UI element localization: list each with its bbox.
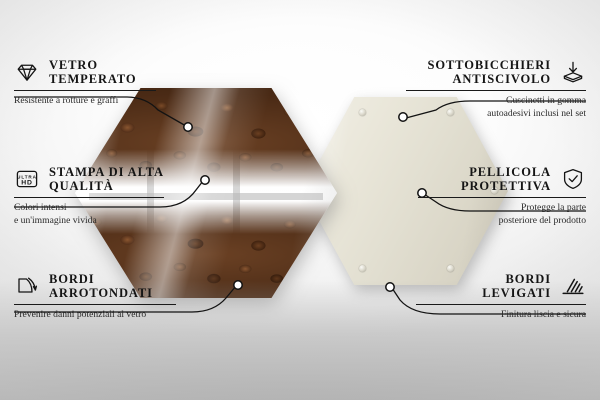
hatched-triangle-icon — [560, 273, 586, 299]
feature-header: ultra HD STAMPA DI ALTA QUALITÀ — [14, 165, 164, 193]
feature-subtitle: Prevenire danni potenziali al vetro — [14, 309, 176, 322]
feature-subtitle: Protegge la parte posteriore del prodott… — [418, 202, 586, 228]
feature-subtitle: Resistente a rotture e graffi — [14, 95, 156, 108]
feature-stampa-alta-qualita: ultra HD STAMPA DI ALTA QUALITÀ Colori i… — [14, 165, 164, 228]
feature-rule — [14, 197, 164, 198]
feature-header: VETRO TEMPERATO — [14, 58, 156, 86]
rubber-pad — [359, 265, 366, 272]
svg-text:HD: HD — [21, 180, 33, 187]
feature-sottobicchieri-antiscivolo: SOTTOBICCHIERI ANTISCIVOLO Cuscinetti in… — [406, 58, 586, 121]
feature-title: PELLICOLA PROTETTIVA — [461, 165, 551, 193]
infographic-canvas: VETRO TEMPERATO Resistente a rotture e g… — [0, 0, 600, 400]
feature-rule — [14, 304, 176, 305]
feature-title: VETRO TEMPERATO — [49, 58, 137, 86]
press-pad-icon — [560, 59, 586, 85]
rubber-pad — [447, 265, 454, 272]
diamond-icon — [14, 59, 40, 85]
feature-rule — [14, 90, 156, 91]
feature-vetro-temperato: VETRO TEMPERATO Resistente a rotture e g… — [14, 58, 156, 108]
ultra-hd-badge-icon: ultra HD — [14, 166, 40, 192]
feature-subtitle: Colori intensi e un'immagine vivida — [14, 202, 164, 228]
feature-subtitle: Finitura liscia e sicura — [416, 309, 586, 322]
feature-title: SOTTOBICCHIERI ANTISCIVOLO — [427, 58, 551, 86]
feature-header: PELLICOLA PROTETTIVA — [418, 165, 586, 193]
svg-text:ultra: ultra — [17, 174, 37, 179]
rounded-corner-icon — [14, 273, 40, 299]
feature-header: BORDI ARROTONDATI — [14, 272, 176, 300]
rubber-pad — [359, 109, 366, 116]
feature-pellicola-protettiva: PELLICOLA PROTETTIVA Protegge la parte p… — [418, 165, 586, 228]
feature-title: STAMPA DI ALTA QUALITÀ — [49, 165, 164, 193]
feature-title: BORDI ARROTONDATI — [49, 272, 153, 300]
feature-rule — [416, 304, 586, 305]
feature-header: SOTTOBICCHIERI ANTISCIVOLO — [406, 58, 586, 86]
feature-rule — [418, 197, 586, 198]
feature-bordi-levigati: BORDI LEVIGATI Finitura liscia e sicura — [416, 272, 586, 322]
feature-header: BORDI LEVIGATI — [416, 272, 586, 300]
feature-bordi-arrotondati: BORDI ARROTONDATI Prevenire danni potenz… — [14, 272, 176, 322]
feature-title: BORDI LEVIGATI — [482, 272, 551, 300]
feature-rule — [406, 90, 586, 91]
feature-subtitle: Cuscinetti in gomma autoadesivi inclusi … — [406, 95, 586, 121]
shield-check-icon — [560, 166, 586, 192]
